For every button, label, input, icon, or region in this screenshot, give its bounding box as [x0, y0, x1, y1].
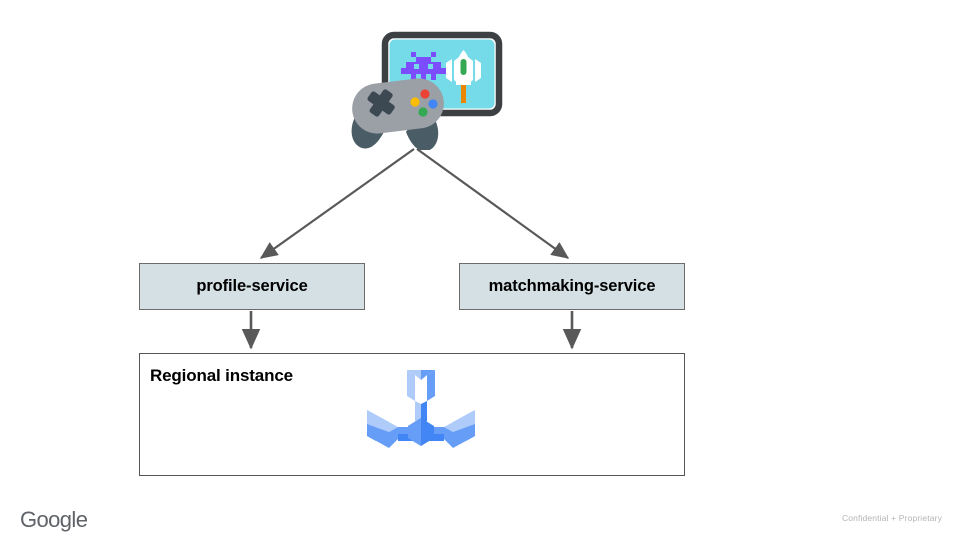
service-box-label: matchmaking-service	[489, 277, 656, 296]
regional-instance-label: Regional instance	[150, 366, 293, 386]
svg-text:Google: Google	[20, 507, 88, 532]
edge-client-to-profile-service	[261, 149, 414, 258]
confidential-proprietary-note: Confidential + Proprietary	[842, 513, 942, 523]
slide-canvas: profile-service matchmaking-service Regi…	[0, 0, 960, 540]
google-logo: Google	[20, 505, 130, 535]
service-box-profile-service[interactable]: profile-service	[139, 263, 365, 310]
compute-engine-icon	[362, 366, 480, 466]
game-controller-and-screen-icon	[338, 30, 504, 150]
edge-client-to-matchmaking-service	[417, 149, 568, 258]
service-box-matchmaking-service[interactable]: matchmaking-service	[459, 263, 685, 310]
regional-instance-container[interactable]: Regional instance	[139, 353, 685, 476]
service-box-label: profile-service	[196, 277, 307, 296]
